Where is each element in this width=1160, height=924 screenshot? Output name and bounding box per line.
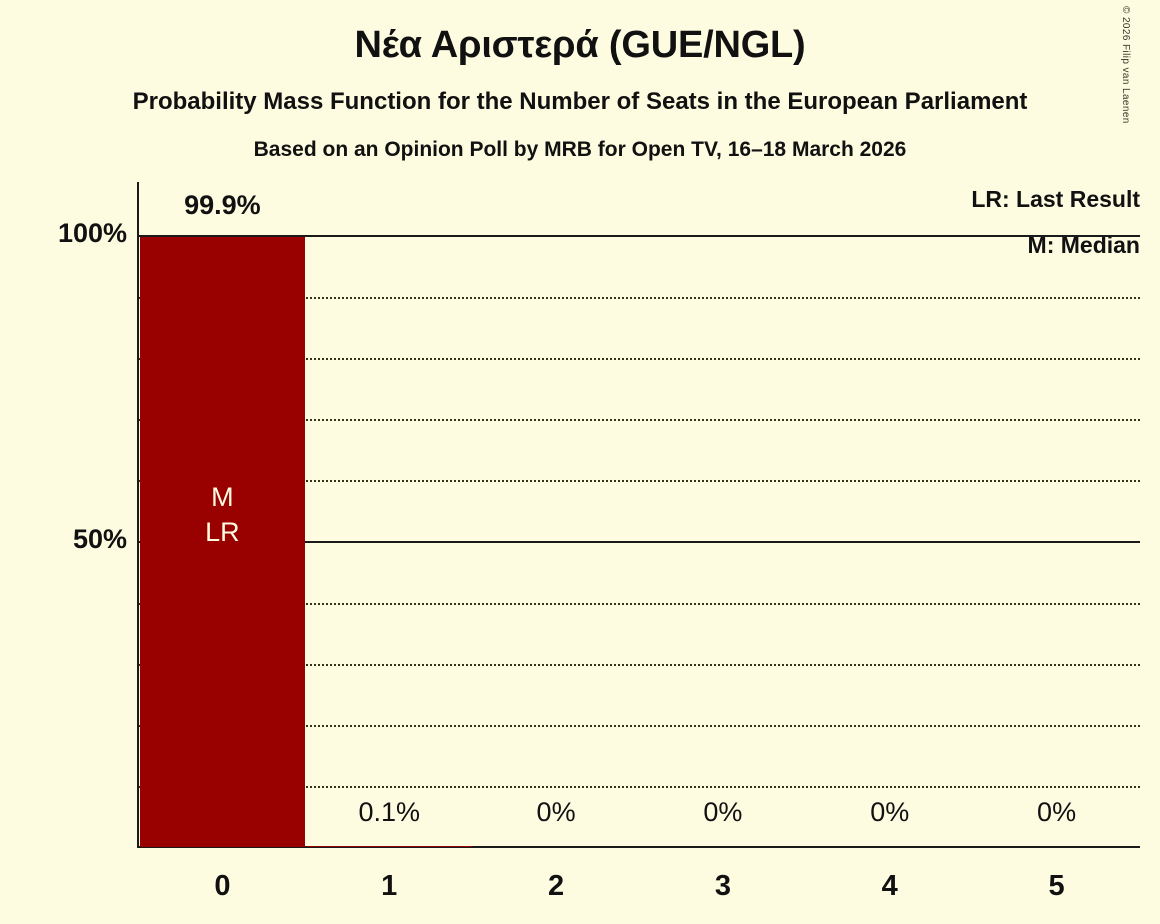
bar-value-label: 0.1%: [306, 797, 473, 828]
bar-column[interactable]: [473, 236, 640, 847]
chart-subtitle-source: Based on an Opinion Poll by MRB for Open…: [0, 138, 1160, 162]
bar-value-label: 0%: [640, 797, 807, 828]
chart-subtitle-primary: Probability Mass Function for the Number…: [0, 88, 1160, 116]
last-result-marker: LR: [140, 515, 305, 550]
legend-last-result: LR: Last Result: [971, 186, 1140, 213]
x-tick-label: 1: [306, 870, 473, 903]
bar-column[interactable]: [639, 236, 806, 847]
x-tick-label: 2: [473, 870, 640, 903]
copyright-notice: © 2026 Filip van Laenen: [1120, 6, 1131, 156]
median-marker: M: [140, 480, 305, 515]
bar[interactable]: [307, 846, 472, 847]
y-tick-label: 100%: [58, 218, 127, 249]
bar[interactable]: MLR: [140, 237, 305, 847]
bar-column[interactable]: [306, 236, 473, 847]
x-tick-label: 0: [139, 870, 306, 903]
bar-value-label: 0%: [473, 797, 640, 828]
bar-value-label: 99.9%: [139, 190, 306, 221]
bar-marker-labels: MLR: [140, 480, 305, 550]
bar-column[interactable]: [806, 236, 973, 847]
bar-column[interactable]: MLR: [139, 236, 306, 847]
bar-series: MLR: [139, 236, 1140, 847]
bar-value-label: 0%: [806, 797, 973, 828]
x-tick-label: 3: [640, 870, 807, 903]
bar-value-label: 0%: [973, 797, 1140, 828]
y-tick-label: 50%: [73, 524, 127, 555]
chart-root: Νέα Αριστερά (GUE/NGL) Probability Mass …: [0, 0, 1160, 924]
chart-title: Νέα Αριστερά (GUE/NGL): [0, 24, 1160, 67]
x-tick-label: 4: [806, 870, 973, 903]
bar-column[interactable]: [973, 236, 1140, 847]
x-tick-label: 5: [973, 870, 1140, 903]
